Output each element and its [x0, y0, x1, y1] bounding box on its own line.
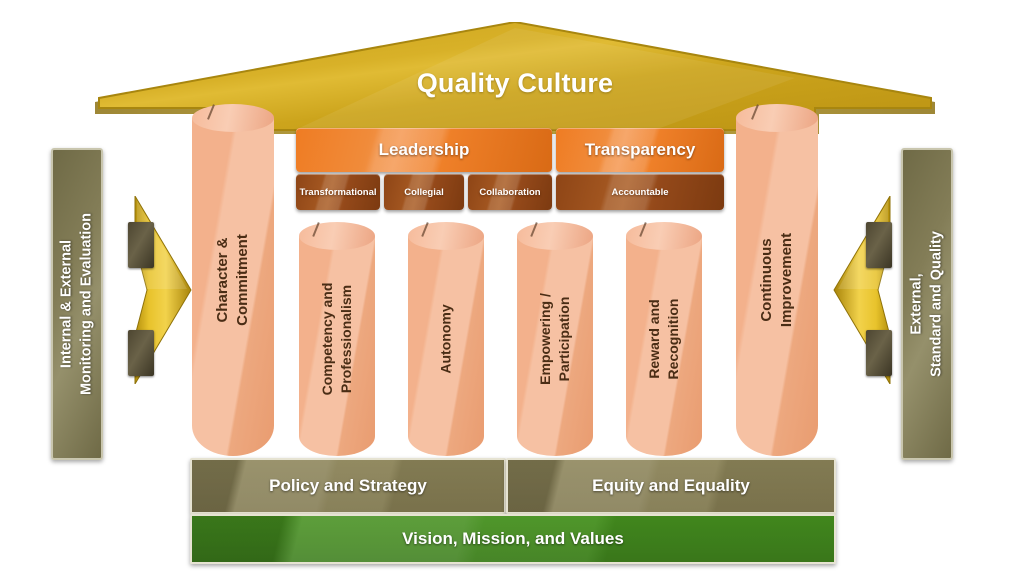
pillar-reward-recognition[interactable]: Reward and Recognition — [626, 222, 702, 456]
pillar-cap — [408, 222, 484, 250]
foundation-vision-mission-values[interactable]: Vision, Mission, and Values — [190, 514, 836, 564]
pillar-label: Competency and Professionalism — [318, 283, 356, 396]
bolt-left-top-icon — [128, 222, 154, 268]
roof-title: Quality Culture — [95, 68, 935, 99]
pillar-autonomy[interactable]: Autonomy — [408, 222, 484, 456]
foundation-policy-label: Policy and Strategy — [269, 476, 427, 496]
pillar-continuous-improvement[interactable]: Continuous Improvement — [736, 104, 818, 456]
pillar-label: Autonomy — [437, 304, 456, 373]
pillar-label: Character & Commitment — [213, 234, 254, 326]
side-panel-left-line2: Monitoring and Evaluation — [78, 213, 94, 395]
side-panel-left-monitoring[interactable]: Internal & External Monitoring and Evalu… — [51, 148, 103, 460]
pillar-label: Empowering / Participation — [536, 293, 574, 385]
pillar-label-line1: Character & — [214, 237, 231, 322]
pillar-character-commitment[interactable]: Character & Commitment — [192, 104, 274, 456]
foundation-vision-label: Vision, Mission, and Values — [402, 529, 624, 549]
pillar-label-line2: Improvement — [778, 233, 795, 327]
pillar-cap — [626, 222, 702, 250]
brick-accountable-label: Accountable — [611, 187, 668, 198]
pillar-cap-stripe — [312, 222, 319, 237]
foundation-equity-label: Equity and Equality — [592, 476, 750, 496]
brick-transformational[interactable]: Transformational — [296, 174, 380, 210]
brick-row-bottom: Transformational Collegial Collaboration… — [296, 174, 724, 210]
pillar-cap-stripe — [751, 104, 759, 120]
side-panel-right-label: External, Standard and Quality — [907, 231, 946, 377]
brick-leadership-label: Leadership — [379, 140, 470, 160]
pillar-cap-stripe — [421, 222, 428, 237]
bolt-left-bottom-icon — [128, 330, 154, 376]
diagram-canvas: Quality Culture Internal & External Moni… — [0, 0, 1024, 576]
pillar-label: Reward and Recognition — [645, 299, 683, 380]
pillar-label-line2: Participation — [556, 297, 572, 382]
pillar-label-line1: Competency and — [319, 283, 335, 396]
pillar-label-line1: Autonomy — [438, 304, 454, 373]
foundation-policy-and-strategy[interactable]: Policy and Strategy — [190, 458, 506, 514]
pillar-label-line2: Recognition — [665, 299, 681, 380]
foundation-equity-and-equality[interactable]: Equity and Equality — [506, 458, 836, 514]
bolt-right-top-icon — [866, 222, 892, 268]
brick-collaboration[interactable]: Collaboration — [468, 174, 552, 210]
brick-section: Leadership Transparency Transformational… — [296, 128, 724, 210]
brick-accountable[interactable]: Accountable — [556, 174, 724, 210]
brick-transparency-label: Transparency — [585, 140, 696, 160]
pillar-cap-stripe — [207, 104, 215, 120]
brick-collegial[interactable]: Collegial — [384, 174, 464, 210]
pillar-label-line2: Professionalism — [338, 285, 354, 393]
pillar-cap — [192, 104, 274, 132]
brick-leadership[interactable]: Leadership — [296, 128, 552, 172]
side-panel-left-label: Internal & External Monitoring and Evalu… — [57, 213, 96, 395]
pillar-label-line1: Empowering / — [537, 293, 553, 385]
brick-transformational-label: Transformational — [299, 187, 376, 198]
pillar-empowering-participation[interactable]: Empowering / Participation — [517, 222, 593, 456]
brick-transparency[interactable]: Transparency — [556, 128, 724, 172]
side-panel-right-standard-quality[interactable]: External, Standard and Quality — [901, 148, 953, 460]
pillar-cap — [299, 222, 375, 250]
pillar-cap-stripe — [530, 222, 537, 237]
side-panel-right-line2: Standard and Quality — [928, 231, 944, 377]
bolt-right-bottom-icon — [866, 330, 892, 376]
brick-row-top: Leadership Transparency — [296, 128, 724, 172]
pillar-cap — [736, 104, 818, 132]
side-panel-right-line1: External, — [908, 273, 924, 334]
side-panel-left-line1: Internal & External — [58, 240, 74, 368]
brick-collaboration-label: Collaboration — [479, 187, 540, 198]
pillar-label-line1: Reward and — [646, 299, 662, 378]
pillar-label-line2: Commitment — [234, 234, 251, 326]
pillar-label: Continuous Improvement — [757, 233, 798, 327]
brick-collegial-label: Collegial — [404, 187, 444, 198]
pillar-cap-stripe — [639, 222, 646, 237]
pillar-competency-professionalism[interactable]: Competency and Professionalism — [299, 222, 375, 456]
pillar-cap — [517, 222, 593, 250]
pillar-label-line1: Continuous — [758, 238, 775, 321]
